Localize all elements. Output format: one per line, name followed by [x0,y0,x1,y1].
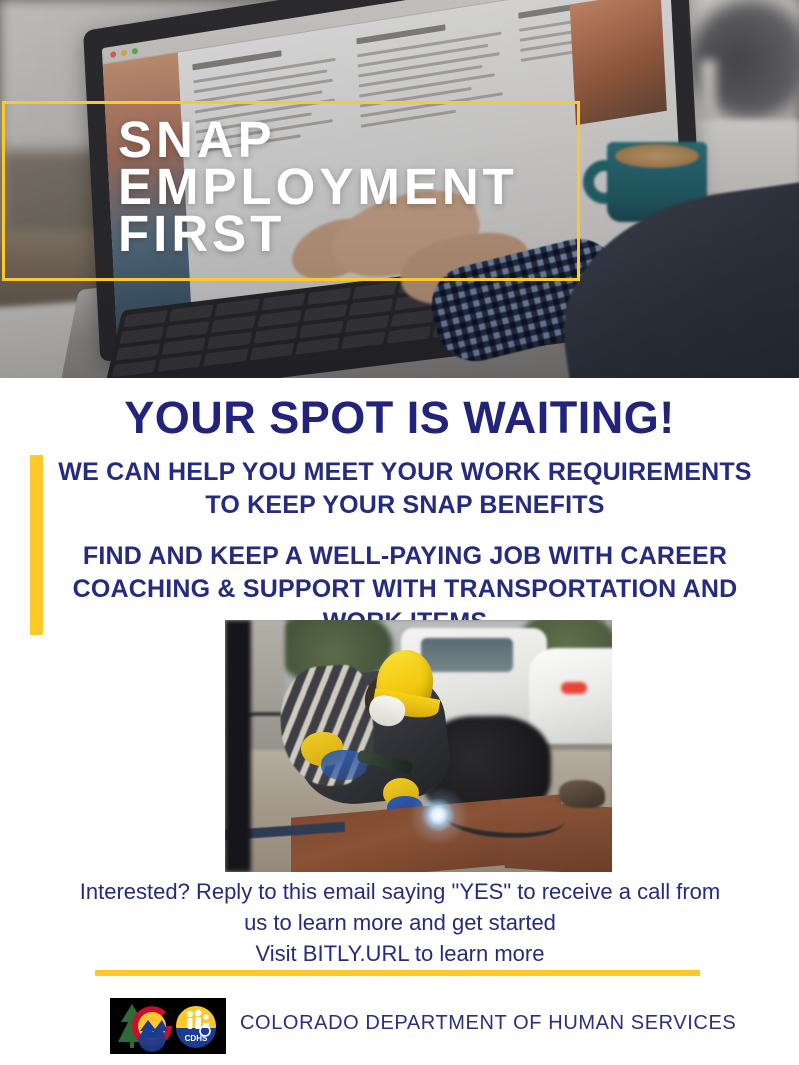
hero-title-line-1: SNAP [118,116,588,163]
photo-car [529,648,612,744]
cta-line-2: us to learn more and get started [50,907,750,938]
hero-title: SNAP EMPLOYMENT FIRST [118,116,588,257]
photo-boot [559,780,605,808]
cta-line-1: Interested? Reply to this email saying "… [50,876,750,907]
hero-banner: SNAP EMPLOYMENT FIRST [0,0,799,378]
footer: CDHS COLORADO DEPARTMENT OF HUMAN SERVIC… [0,998,799,1058]
colorado-cdhs-logo: CDHS [110,998,226,1054]
logo-cdhs-label: CDHS [185,1034,208,1043]
photo-truck-window [421,638,513,672]
welder-photo [225,620,612,872]
photo-dark-edge [225,620,251,872]
photo-car-taillight [561,682,587,694]
cta-line-3: Visit BITLY.URL to learn more [50,938,750,969]
yellow-accent-bar [30,455,43,635]
page-headline: YOUR SPOT IS WAITING! [0,392,799,444]
hero-title-line-3: FIRST [118,210,588,257]
body-paragraph-1: WE CAN HELP YOU MEET YOUR WORK REQUIREME… [55,456,755,522]
footer-divider [95,970,700,976]
hero-title-line-2: EMPLOYMENT [118,163,588,210]
colorado-cdhs-logo-icon: CDHS [110,998,226,1054]
footer-organization-name: COLORADO DEPARTMENT OF HUMAN SERVICES [240,1012,736,1035]
weld-spark [421,798,455,832]
call-to-action: Interested? Reply to this email saying "… [50,876,750,969]
